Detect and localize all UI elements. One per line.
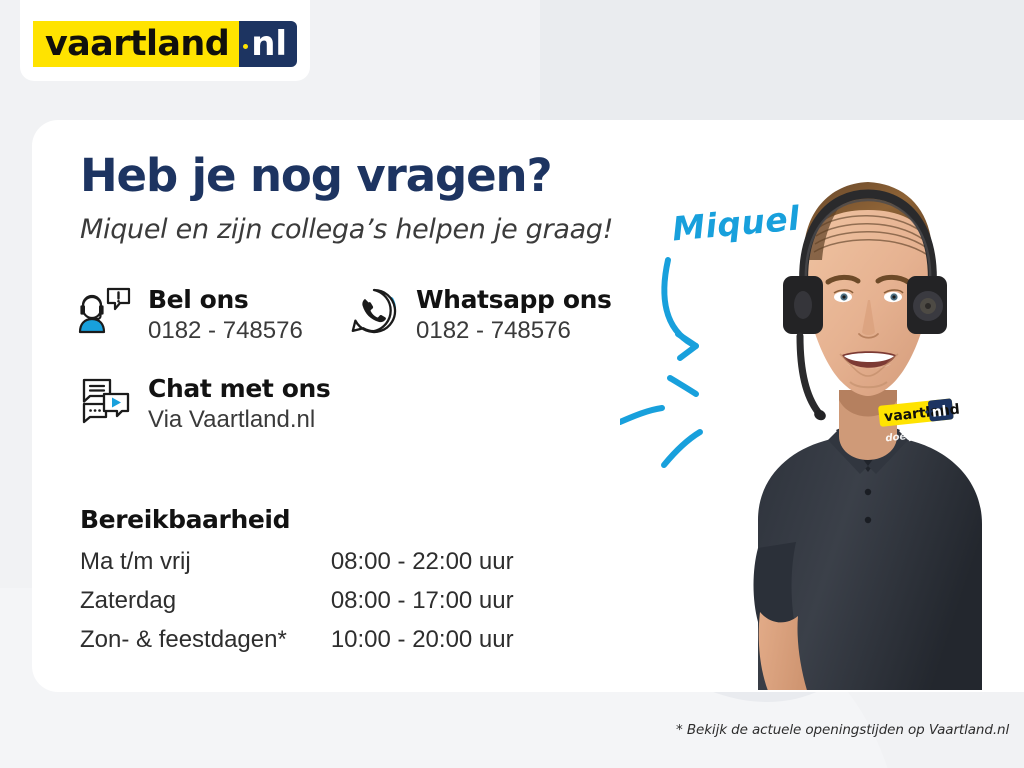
hours-day: Ma t/m vrij bbox=[80, 548, 331, 587]
contact-chat-value: Via Vaartland.nl bbox=[148, 404, 330, 436]
contact-whatsapp-text: Whatsapp ons 0182 - 748576 bbox=[416, 283, 612, 347]
table-row: Ma t/m vrij 08:00 - 22:00 uur bbox=[80, 548, 514, 587]
contact-call-title: Bel ons bbox=[148, 285, 303, 315]
page-subtitle: Miquel en zijn collega’s helpen je graag… bbox=[80, 214, 613, 245]
logo-card[interactable]: vaartland nl bbox=[20, 0, 310, 81]
svg-text:nl: nl bbox=[931, 403, 947, 420]
vaartland-logo: vaartland nl bbox=[33, 21, 297, 67]
footer-note: * Bekijk de actuele openingstijden op Va… bbox=[676, 722, 1009, 738]
table-row: Zaterdag 08:00 - 17:00 uur bbox=[80, 587, 514, 626]
hours-time: 10:00 - 20:00 uur bbox=[331, 626, 514, 665]
contact-option-chat[interactable]: Chat met ons Via Vaartland.nl bbox=[78, 372, 330, 436]
annotation-marks bbox=[620, 240, 840, 500]
contact-option-whatsapp[interactable]: Whatsapp ons 0182 - 748576 bbox=[346, 283, 612, 347]
hours-day: Zon- & feestdagen* bbox=[80, 626, 331, 665]
logo-tld-text: nl bbox=[251, 21, 287, 67]
contact-chat-title: Chat met ons bbox=[148, 374, 330, 404]
hours-heading: Bereikbaarheid bbox=[80, 505, 290, 534]
whatsapp-icon bbox=[346, 283, 402, 339]
hours-day: Zaterdag bbox=[80, 587, 331, 626]
table-row: Zon- & feestdagen* 10:00 - 20:00 uur bbox=[80, 626, 514, 665]
opening-hours-table: Ma t/m vrij 08:00 - 22:00 uur Zaterdag 0… bbox=[80, 548, 514, 665]
chat-bubbles-icon bbox=[78, 372, 134, 428]
contact-call-text: Bel ons 0182 - 748576 bbox=[148, 283, 303, 347]
contact-chat-text: Chat met ons Via Vaartland.nl bbox=[148, 372, 330, 436]
contact-option-call[interactable]: Bel ons 0182 - 748576 bbox=[78, 283, 303, 347]
hours-time: 08:00 - 22:00 uur bbox=[331, 548, 514, 587]
hours-time: 08:00 - 17:00 uur bbox=[331, 587, 514, 626]
headset-person-icon bbox=[78, 283, 134, 339]
promo-banner: vaartland nl Heb je nog vragen? Miquel e… bbox=[0, 0, 1024, 768]
logo-tld-badge: nl bbox=[239, 21, 297, 67]
page-title: Heb je nog vragen? bbox=[80, 149, 551, 202]
logo-dot-icon bbox=[243, 44, 248, 49]
contact-whatsapp-title: Whatsapp ons bbox=[416, 285, 612, 315]
motion-dashes-icon bbox=[620, 378, 700, 465]
contact-call-value: 0182 - 748576 bbox=[148, 315, 303, 347]
logo-wordmark: vaartland bbox=[33, 21, 239, 67]
contact-whatsapp-value: 0182 - 748576 bbox=[416, 315, 612, 347]
